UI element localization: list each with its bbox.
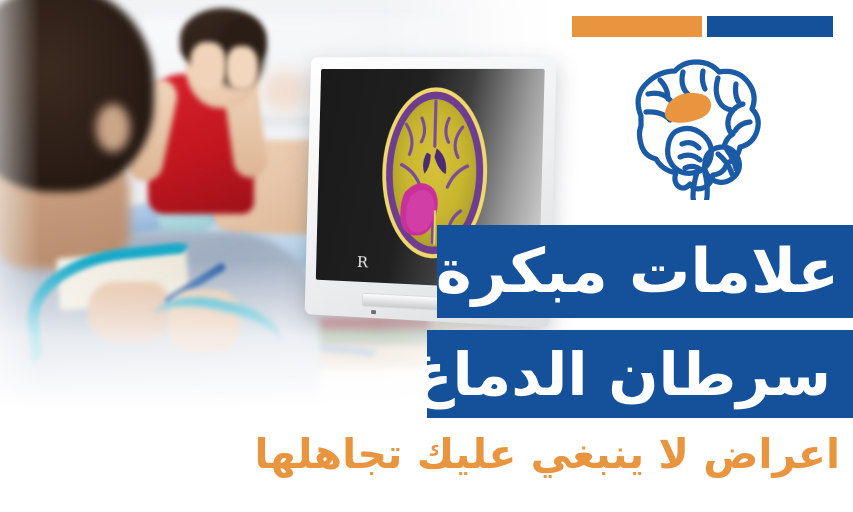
wall-decor-spot bbox=[262, 70, 308, 112]
scan-orientation-label: R bbox=[357, 253, 369, 271]
blue-accent-bar bbox=[707, 16, 833, 37]
headline-banner-line2: سرطان الدماغ bbox=[427, 330, 853, 418]
monitor-power-led bbox=[371, 310, 376, 314]
subtitle-text: اعراض لا ينبغي عليك تجاهلها bbox=[0, 432, 840, 477]
orange-accent-bar bbox=[572, 16, 702, 37]
brain-icon bbox=[612, 50, 782, 200]
patient-right-hand bbox=[226, 46, 258, 90]
headline-banner-line1: علامات مبكرة bbox=[437, 225, 853, 318]
doctor-ear bbox=[96, 104, 130, 152]
patient-left-hand bbox=[190, 42, 226, 88]
monitor-button-3[interactable] bbox=[363, 294, 405, 308]
headline-line2-text: سرطان الدماغ bbox=[412, 345, 831, 404]
headline-line1-text: علامات مبكرة bbox=[436, 241, 839, 302]
poster-canvas: R bbox=[0, 0, 853, 512]
